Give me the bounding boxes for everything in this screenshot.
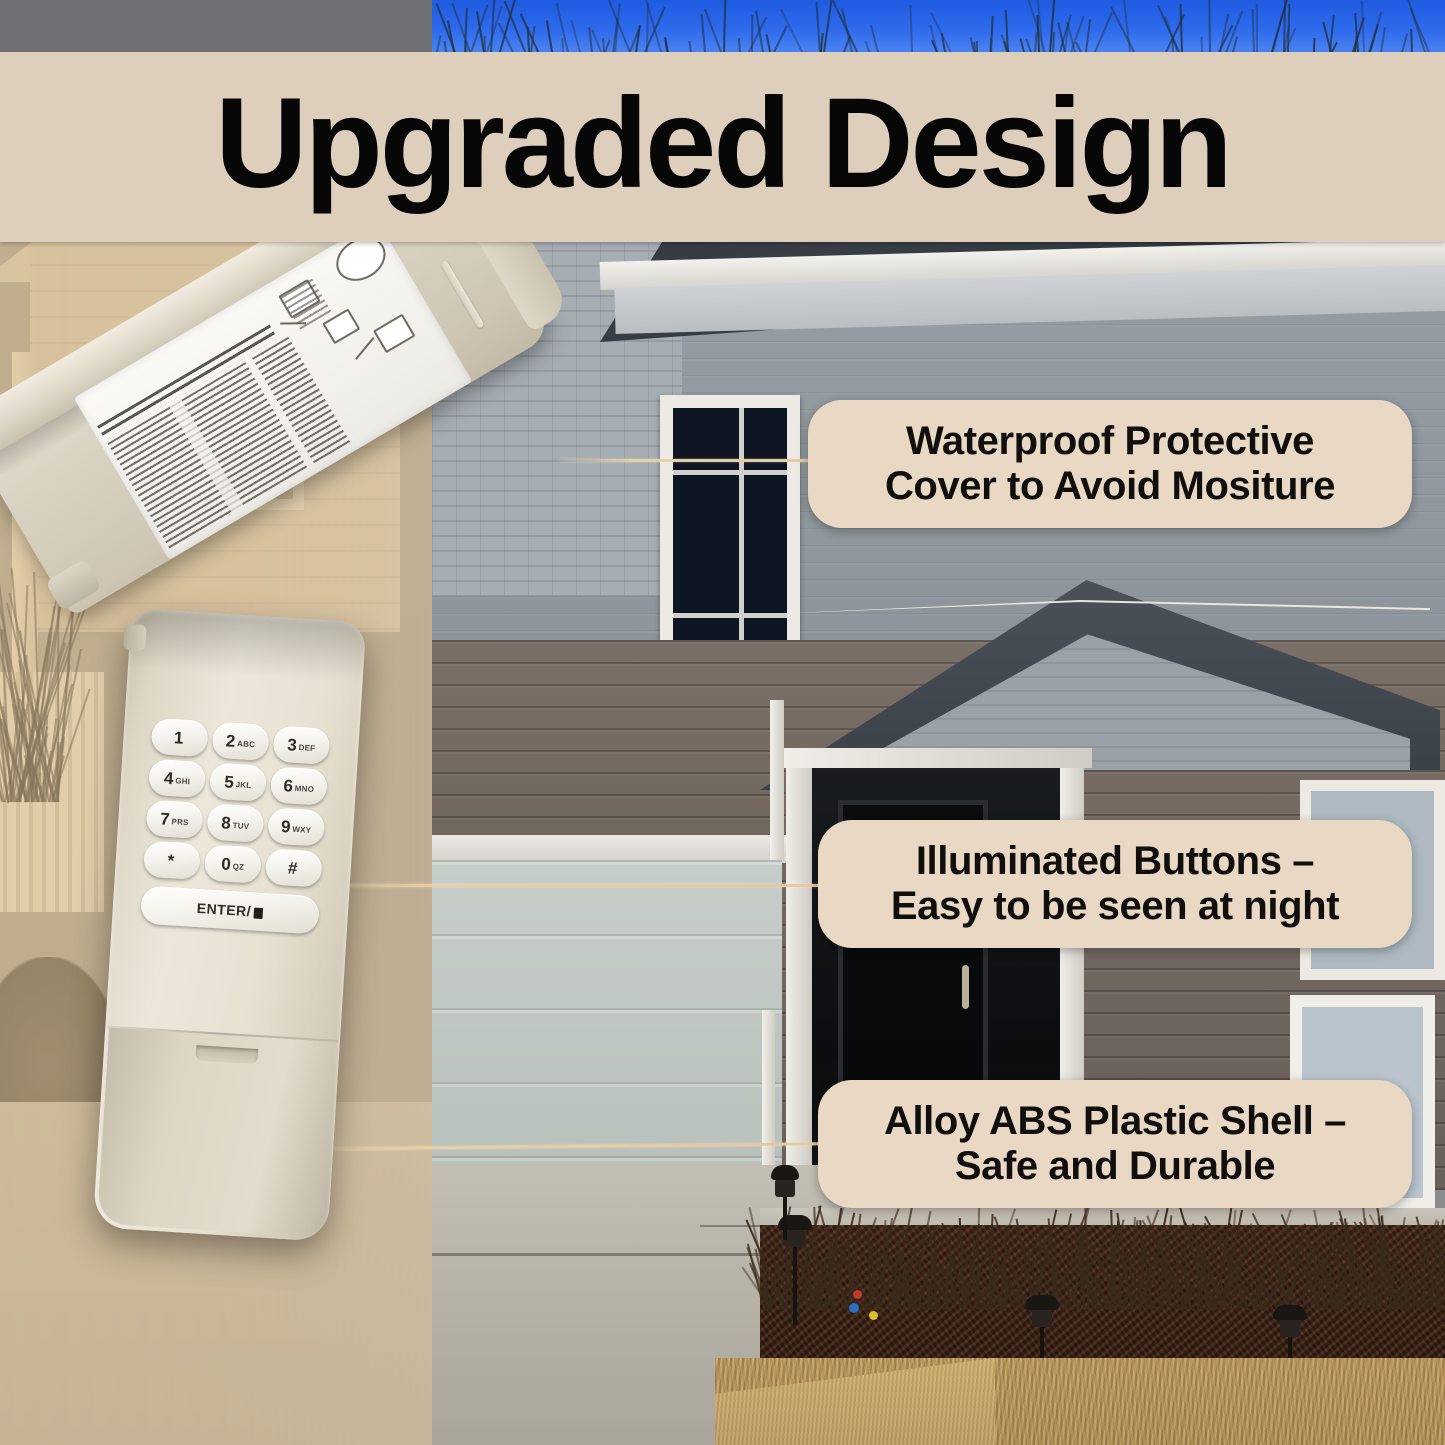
- key-digit: 5: [224, 773, 235, 791]
- key-letters: GHI: [175, 777, 190, 786]
- keypad-row: * 0 QZ #: [143, 841, 323, 888]
- label-diagram-box-3: [373, 314, 415, 354]
- callout-text: Alloy ABS Plastic Shell – Safe and Durab…: [884, 1099, 1346, 1189]
- keypad-row: 4 GHI 5 JKL 6 MNO: [148, 759, 328, 806]
- key-digit: 7: [160, 810, 171, 828]
- toy-speck-blue: [849, 1303, 859, 1313]
- key-3[interactable]: 3 DEF: [272, 725, 330, 764]
- key-letters: DEF: [298, 744, 315, 753]
- key-letters: JKL: [235, 781, 251, 790]
- key-digit: 4: [163, 769, 174, 787]
- key-7[interactable]: 7 PRS: [145, 800, 203, 839]
- keypad-enter-row: ENTER/: [140, 885, 320, 934]
- callout-illuminated-buttons: Illuminated Buttons – Easy to be seen at…: [818, 820, 1412, 948]
- product-marketing-image: 1 2 ABC 3 DEF 4 GHI: [0, 0, 1445, 1445]
- key-digit: 9: [281, 818, 292, 836]
- key-digit: 3: [287, 736, 298, 754]
- garage-door-icon: [254, 907, 264, 919]
- key-digit: #: [287, 859, 298, 877]
- key-enter[interactable]: ENTER/: [140, 885, 320, 934]
- key-1[interactable]: 1: [151, 718, 209, 757]
- key-digit: 0: [221, 855, 232, 873]
- porch-post-left: [786, 758, 812, 1188]
- toy-speck-red: [853, 1290, 862, 1299]
- enter-label: ENTER/: [196, 901, 251, 918]
- key-6[interactable]: 6 MNO: [270, 766, 328, 805]
- page-title: Upgraded Design: [215, 80, 1230, 208]
- keypad-top-shading: [128, 608, 366, 683]
- key-letters: ABC: [237, 740, 255, 749]
- sky-gray-strip: [0, 0, 432, 52]
- keypad-row: 7 PRS 8 TUV 9 WXY: [145, 800, 325, 847]
- key-letters: TUV: [232, 822, 249, 831]
- key-digit: *: [167, 852, 175, 869]
- key-2[interactable]: 2 ABC: [211, 722, 269, 761]
- header-banner: Upgraded Design: [0, 52, 1445, 242]
- key-letters: MNO: [295, 785, 315, 794]
- key-digit: 1: [173, 729, 184, 747]
- keypad-row: 1 2 ABC 3 DEF: [151, 718, 331, 765]
- key-9[interactable]: 9 WXY: [267, 807, 325, 846]
- garage-keypad-product: 1 2 ABC 3 DEF 4 GHI: [90, 330, 690, 1260]
- key-0[interactable]: 0 QZ: [204, 844, 262, 883]
- key-star[interactable]: *: [143, 841, 201, 880]
- sky-blue-strip: [432, 0, 1445, 52]
- key-digit: 2: [225, 732, 236, 750]
- key-digit: 8: [221, 814, 232, 832]
- callout-waterproof-cover: Waterproof Protective Cover to Avoid Mos…: [808, 400, 1412, 528]
- key-5[interactable]: 5 JKL: [209, 763, 267, 802]
- key-8[interactable]: 8 TUV: [206, 803, 264, 842]
- bare-shrubs: [760, 1190, 1445, 1310]
- porch-beam: [780, 748, 1092, 768]
- callout-abs-shell: Alloy ABS Plastic Shell – Safe and Durab…: [818, 1080, 1412, 1208]
- callout-text: Waterproof Protective Cover to Avoid Mos…: [885, 419, 1335, 509]
- key-letters: QZ: [232, 863, 244, 872]
- keypad-hinge-tab: [123, 624, 147, 651]
- path-light-4: [770, 1165, 800, 1240]
- keypad-body: 1 2 ABC 3 DEF 4 GHI: [93, 608, 366, 1242]
- downspout-upper: [770, 700, 784, 860]
- key-letters: WXY: [292, 826, 311, 835]
- key-letters: PRS: [171, 818, 189, 827]
- key-digit: 6: [283, 777, 294, 795]
- key-hash[interactable]: #: [265, 848, 323, 887]
- keypad-buttons: 1 2 ABC 3 DEF 4 GHI: [140, 718, 331, 940]
- callout-text: Illuminated Buttons – Easy to be seen at…: [891, 839, 1339, 929]
- key-4[interactable]: 4 GHI: [148, 759, 206, 798]
- toy-speck-yellow: [869, 1311, 878, 1320]
- front-door-handle: [962, 965, 969, 1009]
- label-diagram-arrow-2: [355, 337, 374, 360]
